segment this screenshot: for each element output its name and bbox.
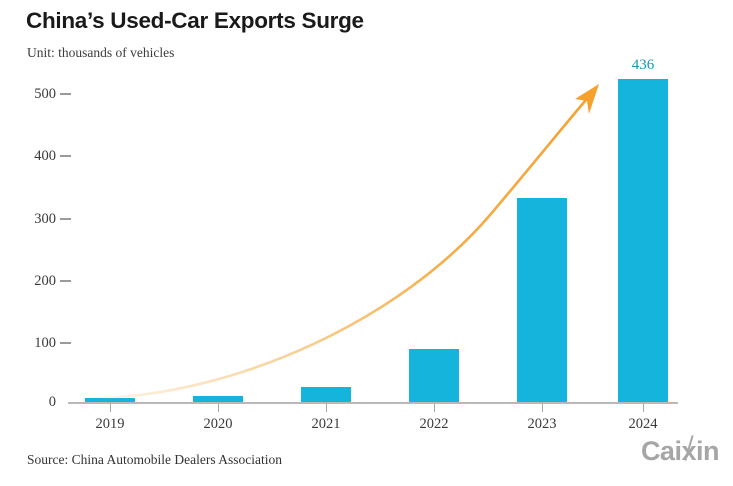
y-axis-tick-label-100: 100 [10, 335, 56, 352]
x-axis-label-2023: 2023 [507, 416, 577, 433]
y-axis-tick-dash-200 [60, 280, 71, 282]
x-axis-label-2019: 2019 [75, 416, 145, 433]
bar-2024[interactable] [618, 79, 668, 403]
y-axis-tick-label-0: 0 [10, 394, 56, 411]
x-axis-tick-2023 [542, 403, 543, 412]
x-axis-label-2021: 2021 [291, 416, 361, 433]
caixin-logo-suffix: in [696, 436, 719, 466]
x-axis-tick-2024 [643, 403, 644, 412]
x-axis-tick-2021 [326, 403, 327, 412]
y-axis-tick-dash-300 [60, 218, 71, 220]
caixin-logo-prefix: Cai [641, 436, 682, 466]
x-axis-label-2020: 2020 [183, 416, 253, 433]
plot-area: 500 400 300 200 100 0 436 2019 2020 202 [0, 0, 733, 486]
source-note: Source: China Automobile Dealers Associa… [27, 452, 282, 468]
caixin-logo-x: x [681, 438, 696, 465]
y-axis-tick-label-500: 500 [10, 86, 56, 103]
bar-2022[interactable] [409, 349, 459, 403]
y-axis-tick-dash-100 [60, 342, 71, 344]
x-axis-line [68, 402, 678, 404]
y-axis-tick-dash-400 [60, 155, 71, 157]
x-axis-label-2022: 2022 [399, 416, 469, 433]
y-axis-tick-label-200: 200 [10, 273, 56, 290]
caixin-logo: Caixin [641, 438, 719, 465]
x-axis-tick-2022 [434, 403, 435, 412]
bar-value-label-2024: 436 [608, 57, 678, 74]
x-axis-tick-2020 [218, 403, 219, 412]
chart-canvas: China’s Used-Car Exports Surge Unit: tho… [0, 0, 733, 486]
bar-2023[interactable] [517, 198, 567, 403]
x-axis-label-2024: 2024 [608, 416, 678, 433]
y-axis-tick-dash-500 [60, 93, 71, 95]
x-axis-tick-2019 [110, 403, 111, 412]
bar-2021[interactable] [301, 387, 351, 403]
y-axis-tick-label-300: 300 [10, 211, 56, 228]
y-axis-tick-label-400: 400 [10, 148, 56, 165]
